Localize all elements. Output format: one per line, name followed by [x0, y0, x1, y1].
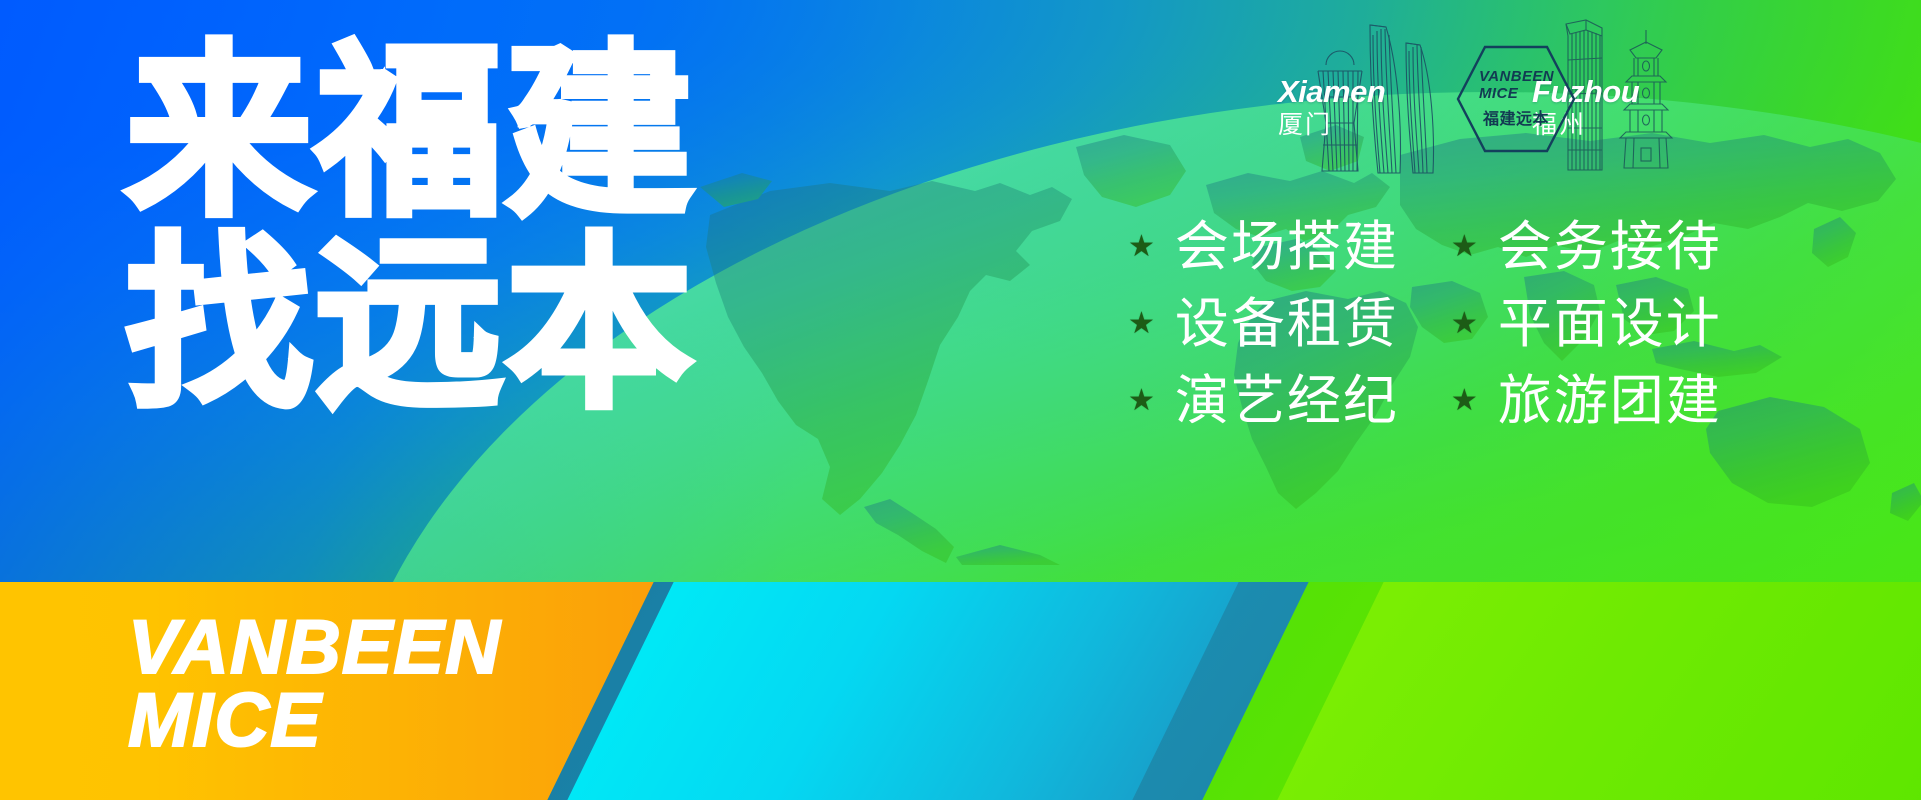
- star-icon: ★: [1128, 232, 1155, 262]
- city-label-xiamen: Xiamen 厦门: [1278, 76, 1385, 140]
- service-item: ★ 会务接待: [1451, 212, 1722, 281]
- hexagon-logo-text: VANBEEN MICE 福建远本: [1455, 44, 1577, 154]
- footer-brand-line-2: MICE: [128, 685, 501, 758]
- service-label: 旅游团建: [1498, 366, 1722, 435]
- service-label: 会务接待: [1498, 212, 1722, 281]
- hex-logo-line-1: VANBEEN: [1479, 69, 1553, 85]
- footer-brand-block: VANBEEN MICE: [128, 612, 501, 758]
- star-icon: ★: [1451, 232, 1478, 262]
- service-label: 平面设计: [1498, 289, 1722, 358]
- service-item: ★ 会场搭建: [1128, 212, 1399, 281]
- hex-logo-line-2: MICE: [1479, 86, 1553, 102]
- service-item: ★ 演艺经纪: [1128, 366, 1399, 435]
- service-item: ★ 旅游团建: [1451, 366, 1722, 435]
- headline-line-2: 找远本: [126, 234, 746, 416]
- service-label: 设备租赁: [1175, 289, 1399, 358]
- city-name-cn: 厦门: [1278, 109, 1385, 140]
- hex-logo-cn: 福建远本: [1483, 105, 1549, 129]
- service-label: 演艺经纪: [1175, 366, 1399, 435]
- banner-top-section: 来福建 找远本: [0, 0, 1921, 582]
- star-icon: ★: [1451, 386, 1478, 416]
- footer-brand-line-1: VANBEEN: [128, 612, 501, 685]
- star-icon: ★: [1128, 386, 1155, 416]
- vanbeen-hexagon-logo: VANBEEN MICE 福建远本: [1455, 44, 1577, 154]
- diagonal-stripe-green-b: [1271, 582, 1921, 800]
- banner-bottom-bar: VANBEEN MICE: [0, 582, 1921, 800]
- service-item: ★ 平面设计: [1451, 289, 1722, 358]
- city-name-en: Xiamen: [1278, 76, 1385, 107]
- star-icon: ★: [1128, 309, 1155, 339]
- promo-banner: 来福建 找远本: [0, 0, 1921, 800]
- service-item: ★ 设备租赁: [1128, 289, 1399, 358]
- star-icon: ★: [1451, 309, 1478, 339]
- services-grid: ★ 会场搭建 ★ 会务接待 ★ 设备租赁 ★ 平面设计 ★ 演艺经纪 ★ 旅游团…: [1128, 212, 1722, 435]
- headline-block: 来福建 找远本: [126, 42, 746, 417]
- headline-line-1: 来福建: [126, 42, 746, 224]
- service-label: 会场搭建: [1175, 212, 1399, 281]
